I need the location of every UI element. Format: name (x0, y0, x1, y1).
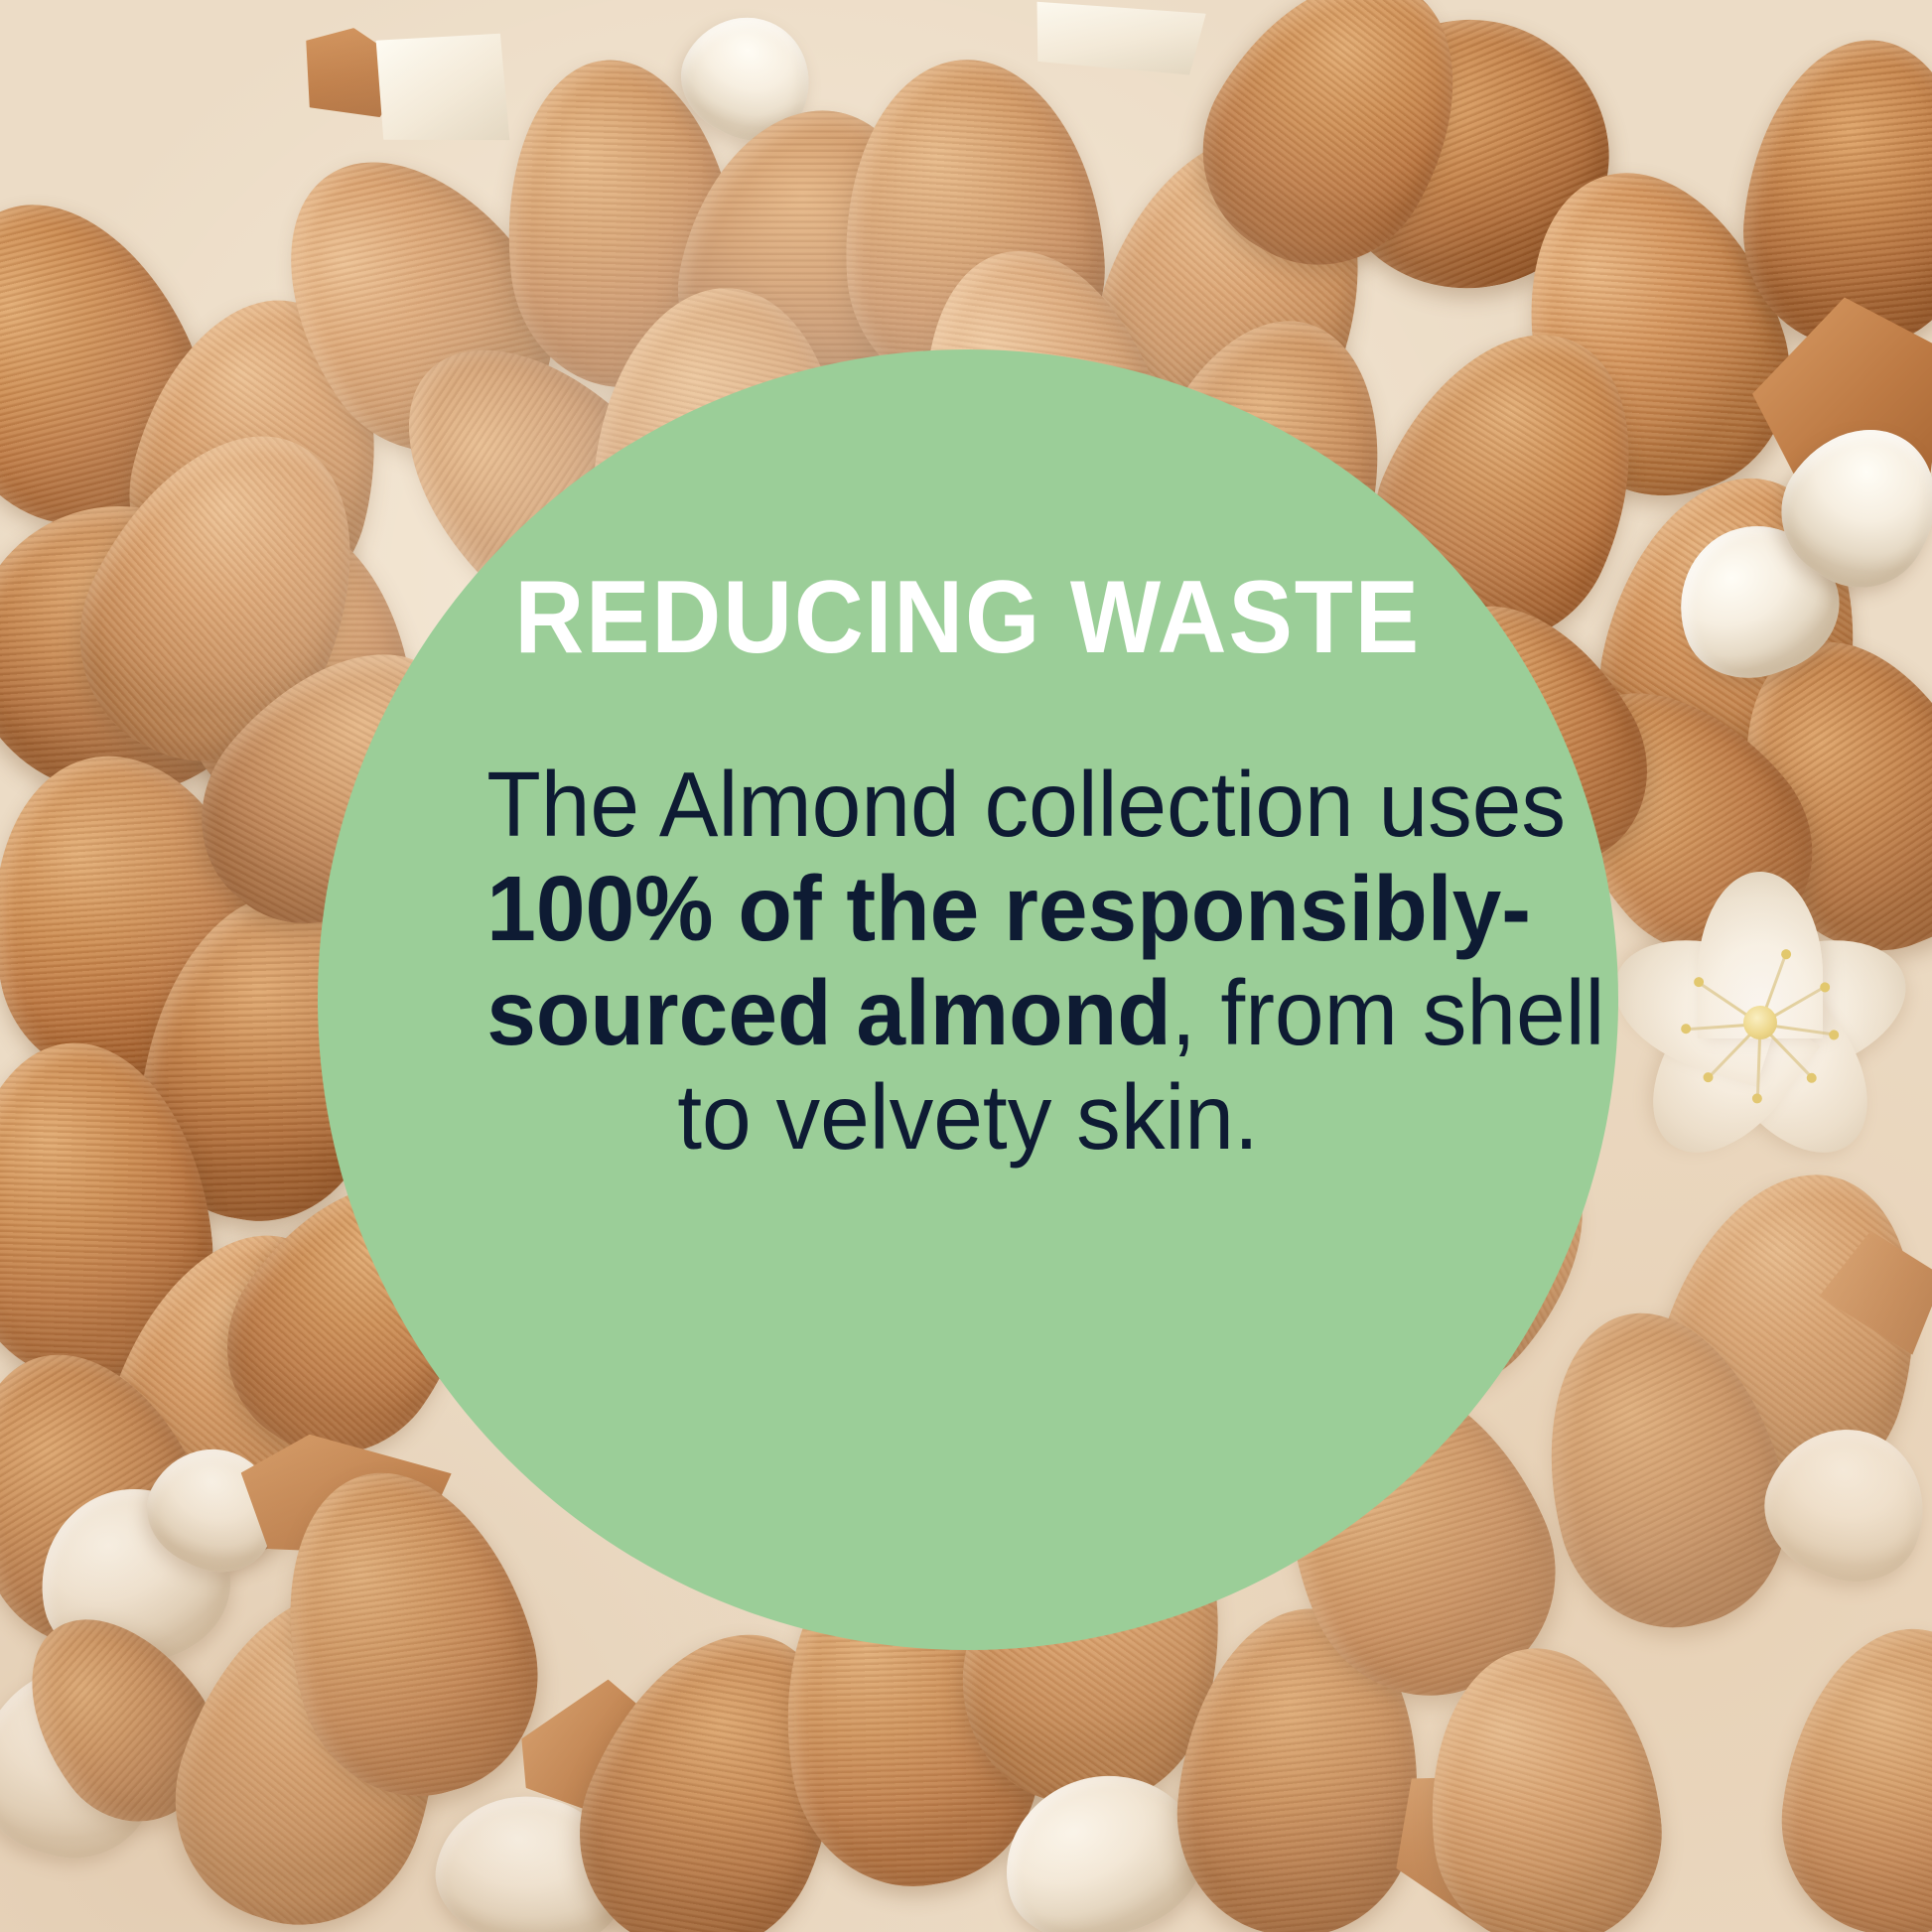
blanched-kernel-chip (359, 11, 525, 170)
image-canvas: REDUCING WASTE The Almond collection use… (0, 0, 1932, 1932)
badge-body-line: sourced almond, from shell (486, 961, 1449, 1065)
whole-almond (1767, 1614, 1932, 1932)
green-circle-badge: REDUCING WASTE The Almond collection use… (318, 349, 1618, 1650)
badge-heading: REDUCING WASTE (515, 566, 1422, 669)
badge-body-emphasis: 100% of the responsibly- (486, 857, 1531, 960)
badge-body-copy: The Almond collection uses100% of the re… (486, 753, 1449, 1170)
badge-body-line: 100% of the responsibly- (486, 857, 1449, 961)
badge-body-text: The Almond collection uses (486, 753, 1566, 856)
badge-body-text: to velvety skin. (677, 1065, 1259, 1169)
badge-body-line: The Almond collection uses (486, 753, 1449, 857)
blanched-kernel-chip (1028, 0, 1205, 86)
badge-body-text: , from shell (1172, 961, 1605, 1064)
blossom-center (1743, 1006, 1777, 1039)
almond-blossom (1577, 844, 1932, 1201)
badge-body-emphasis: sourced almond (486, 961, 1172, 1064)
badge-body-line: to velvety skin. (486, 1065, 1449, 1170)
